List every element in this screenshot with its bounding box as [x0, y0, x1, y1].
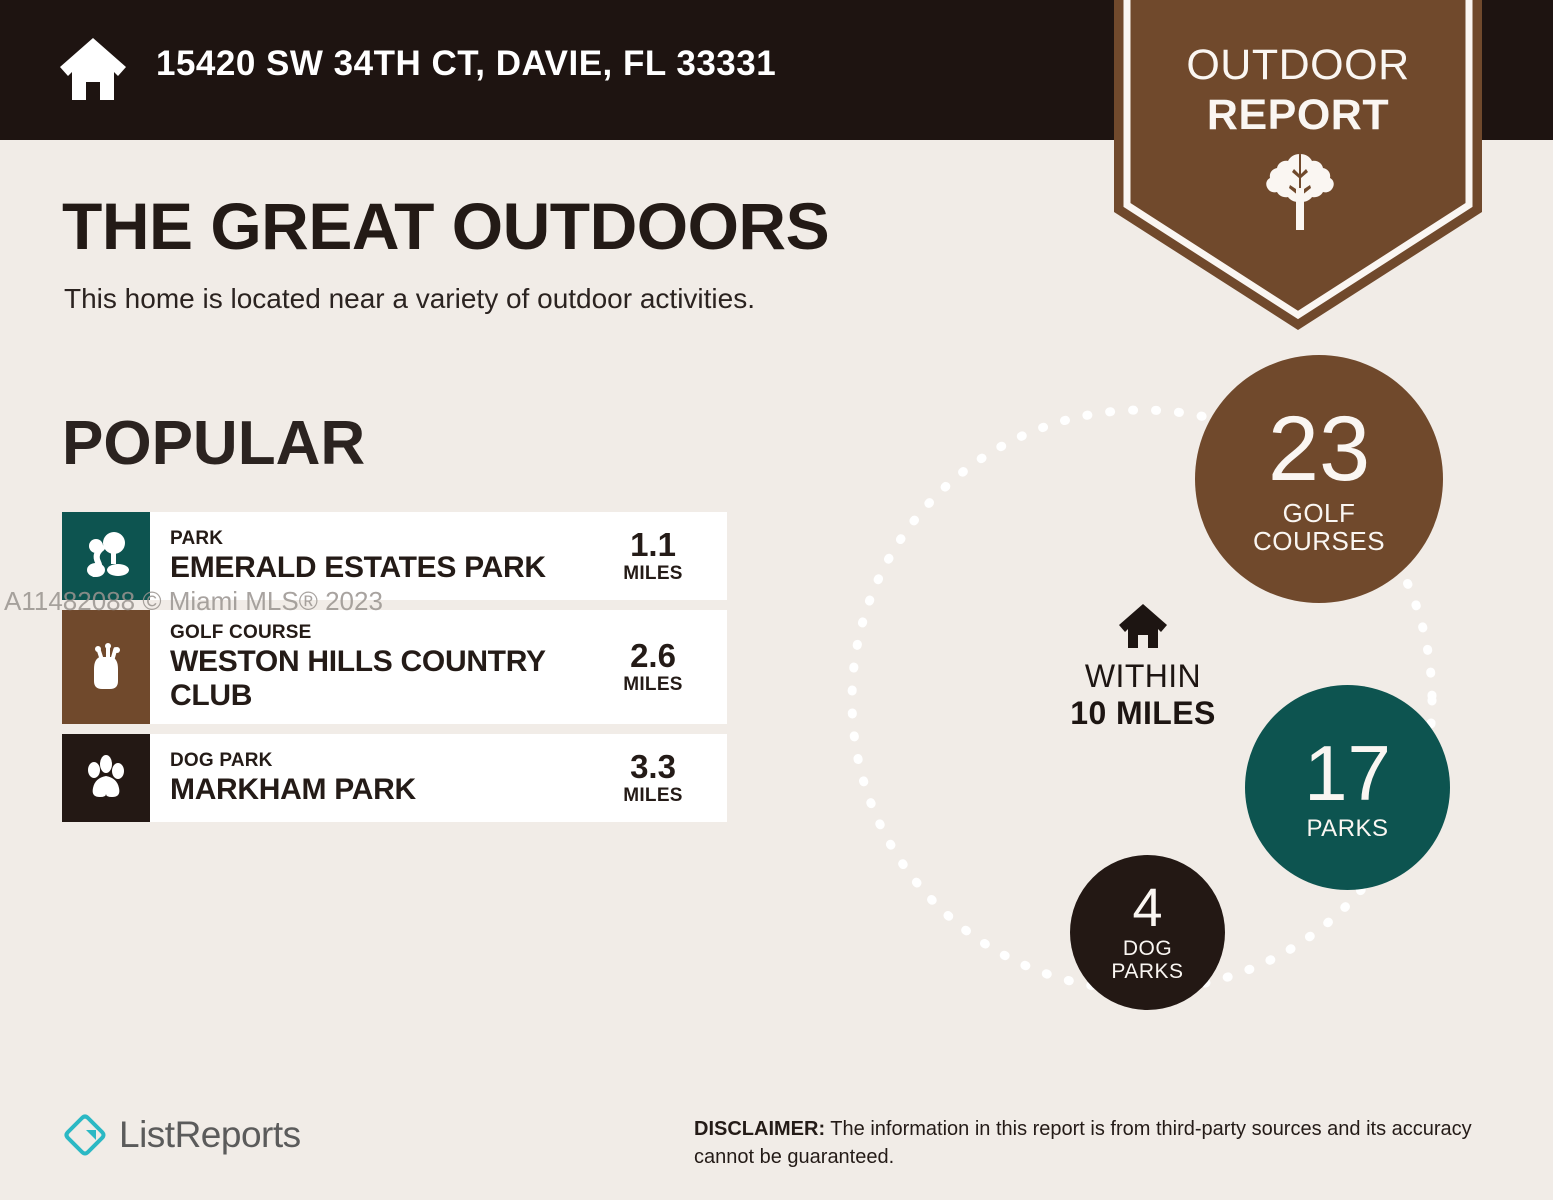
poi-text-block: PARK EMERALD ESTATES PARK	[150, 512, 593, 600]
page-title: THE GREAT OUTDOORS	[62, 188, 829, 264]
list-item[interactable]: DOG PARK MARKHAM PARK 3.3 MILES	[62, 734, 727, 822]
stat-label-line1: DOG	[1111, 938, 1183, 961]
poi-name: EMERALD ESTATES PARK	[170, 551, 587, 585]
poi-icon-tile	[62, 512, 150, 600]
badge-line-1: OUTDOOR	[1186, 41, 1409, 89]
poi-distance-value: 2.6	[630, 638, 676, 673]
badge-line-2: REPORT	[1114, 90, 1482, 140]
poi-distance-unit: MILES	[623, 784, 683, 807]
stat-label-line2: COURSES	[1253, 527, 1385, 555]
poi-text-block: DOG PARK MARKHAM PARK	[150, 734, 593, 822]
poi-icon-tile	[62, 734, 150, 822]
poi-distance: 1.1 MILES	[593, 512, 727, 600]
poi-category: PARK	[170, 527, 587, 551]
poi-distance-unit: MILES	[623, 673, 683, 696]
stat-label-line1: GOLF	[1253, 499, 1385, 527]
popular-poi-list: PARK EMERALD ESTATES PARK 1.1 MILES	[62, 512, 727, 832]
disclaimer-label: DISCLAIMER:	[694, 1118, 825, 1140]
page-subtitle: This home is located near a variety of o…	[64, 283, 755, 315]
stat-label: DOG PARKS	[1111, 938, 1183, 983]
stat-value: 4	[1132, 881, 1162, 935]
stat-label: GOLF COURSES	[1253, 499, 1385, 555]
stat-circle-dog-parks[interactable]: 4 DOG PARKS	[1070, 855, 1225, 1010]
section-title-popular: POPULAR	[62, 408, 365, 479]
golf-bag-icon	[80, 641, 132, 693]
paw-print-icon	[80, 752, 132, 804]
within-label-line2: 10 MILES	[1038, 695, 1248, 732]
poi-distance-value: 3.3	[630, 749, 676, 784]
poi-category: GOLF COURSE	[170, 621, 587, 645]
poi-distance: 3.3 MILES	[593, 734, 727, 822]
stat-label-line1: PARKS	[1306, 816, 1388, 842]
stat-value: 23	[1268, 403, 1370, 495]
home-icon	[58, 36, 128, 102]
listreports-logo[interactable]: ListReports	[62, 1112, 301, 1158]
list-item[interactable]: PARK EMERALD ESTATES PARK 1.1 MILES	[62, 512, 727, 600]
poi-text-block: GOLF COURSE WESTON HILLS COUNTRY CLUB	[150, 610, 593, 724]
disclaimer: DISCLAIMER: The information in this repo…	[694, 1115, 1494, 1171]
park-tree-icon	[80, 530, 132, 582]
list-item[interactable]: GOLF COURSE WESTON HILLS COUNTRY CLUB 2.…	[62, 610, 727, 724]
home-icon	[1117, 602, 1169, 650]
badge-title-text: OUTDOOR REPORT	[1114, 40, 1482, 140]
stat-value: 17	[1304, 734, 1391, 812]
within-radius-block: WITHIN 10 MILES	[1038, 602, 1248, 732]
outdoor-report-page: 15420 SW 34TH CT, DAVIE, FL 33331 OUTDOO…	[0, 0, 1553, 1200]
poi-distance-unit: MILES	[623, 562, 683, 585]
poi-distance-value: 1.1	[630, 527, 676, 562]
poi-name: MARKHAM PARK	[170, 773, 587, 807]
stats-area: WITHIN 10 MILES 23 GOLF COURSES 17 PARKS…	[820, 330, 1520, 1070]
poi-distance: 2.6 MILES	[593, 610, 727, 724]
listreports-house-tag-icon	[62, 1112, 108, 1158]
poi-category: DOG PARK	[170, 749, 587, 773]
stat-label-line2: PARKS	[1111, 961, 1183, 984]
tree-icon	[1266, 152, 1334, 232]
listreports-wordmark: ListReports	[119, 1114, 301, 1156]
within-label-line1: WITHIN	[1038, 658, 1248, 695]
stat-circle-golf-courses[interactable]: 23 GOLF COURSES	[1195, 355, 1443, 603]
stat-circle-parks[interactable]: 17 PARKS	[1245, 685, 1450, 890]
outdoor-report-badge: OUTDOOR REPORT	[1114, 0, 1482, 330]
poi-icon-tile	[62, 610, 150, 724]
poi-name: WESTON HILLS COUNTRY CLUB	[170, 645, 587, 713]
property-address: 15420 SW 34TH CT, DAVIE, FL 33331	[156, 44, 776, 84]
stat-label: PARKS	[1306, 816, 1388, 842]
